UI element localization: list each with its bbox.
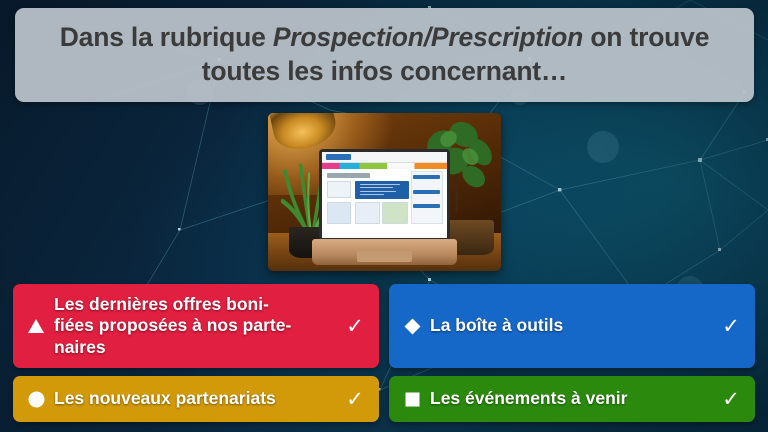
answer-check-a: ✓ xyxy=(344,316,366,337)
question-text: Dans la rubrique Prospection/Prescriptio… xyxy=(15,21,754,89)
answer-grid: Les dernières offres boni-fiées proposée… xyxy=(13,284,755,422)
website-card xyxy=(355,202,380,224)
answer-label-b: La boîte à outils xyxy=(423,315,720,336)
answer-option-a[interactable]: Les dernières offres boni-fiées proposée… xyxy=(13,284,379,368)
answer-check-b: ✓ xyxy=(720,316,742,337)
website-card xyxy=(382,202,408,224)
website-logo xyxy=(326,154,351,160)
website-sidebar xyxy=(411,171,443,224)
website-nav-row xyxy=(322,163,446,169)
website-card xyxy=(327,202,351,224)
diamond-icon xyxy=(401,318,423,335)
circle-icon xyxy=(25,391,47,408)
answer-check-d: ✓ xyxy=(720,389,742,410)
laptop-screen-bezel xyxy=(319,149,449,241)
answer-label-d: Les événements à venir xyxy=(423,388,720,409)
question-emphasis: Prospection/Prescription xyxy=(273,22,583,52)
website-banner xyxy=(355,181,410,200)
website-heading xyxy=(327,173,369,178)
laptop-trackpad xyxy=(357,251,413,262)
question-prefix: Dans la rubrique xyxy=(60,22,273,52)
answer-check-c: ✓ xyxy=(344,389,366,410)
triangle-icon xyxy=(25,318,47,334)
website-card xyxy=(327,181,351,198)
answer-option-c[interactable]: Les nouveaux partenariats ✓ xyxy=(13,376,379,422)
question-image xyxy=(268,113,501,271)
answer-option-b[interactable]: La boîte à outils ✓ xyxy=(389,284,755,368)
laptop-desk-photo xyxy=(268,113,501,271)
answer-option-d[interactable]: Les événements à venir ✓ xyxy=(389,376,755,422)
laptop-screen-content xyxy=(322,152,446,238)
answer-label-c: Les nouveaux partenariats xyxy=(47,388,344,409)
square-icon xyxy=(401,392,423,407)
answer-label-a: Les dernières offres boni-fiées proposée… xyxy=(47,294,344,358)
question-banner: Dans la rubrique Prospection/Prescriptio… xyxy=(15,8,754,102)
